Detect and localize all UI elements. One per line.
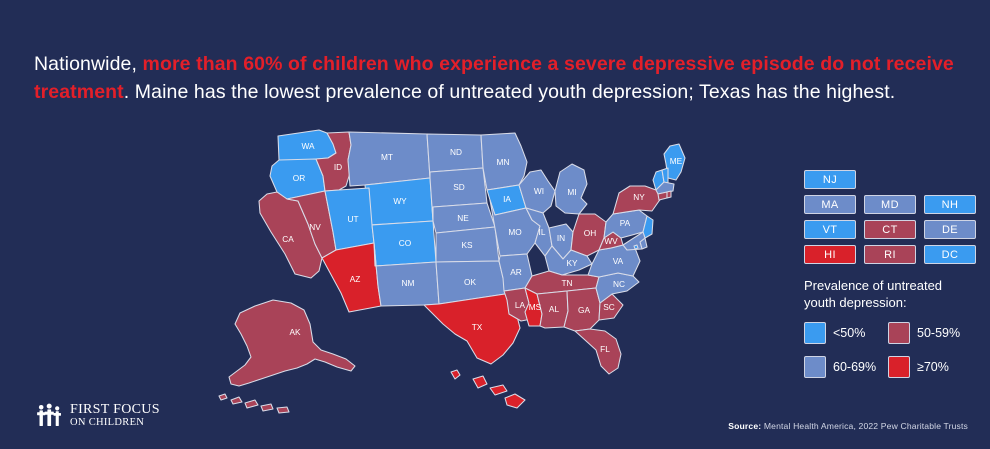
state-ga[interactable]: [564, 288, 600, 331]
legend-title: Prevalence of untreated youth depression…: [804, 278, 974, 311]
state-chip-hi[interactable]: HI: [804, 245, 856, 264]
logo-line-2: ON CHILDREN: [70, 417, 160, 428]
state-dc[interactable]: [634, 245, 638, 249]
state-chip-ct[interactable]: CT: [864, 220, 916, 239]
state-chip-label: HI: [824, 249, 836, 261]
state-co[interactable]: [372, 221, 436, 266]
state-fl[interactable]: [575, 329, 621, 374]
state-az[interactable]: [322, 243, 381, 312]
state-hi[interactable]: [451, 370, 525, 408]
state-ak[interactable]: [229, 300, 355, 386]
legend-label-0: <50%: [833, 326, 865, 340]
legend-swatch-1: [888, 322, 910, 344]
state-ks[interactable]: [436, 227, 499, 262]
legend-swatch-0: [804, 322, 826, 344]
source-attribution: Source: Mental Health America, 2022 Pew …: [728, 421, 968, 431]
chip-spacer: [924, 170, 976, 189]
legend-label-2: 60-69%: [833, 360, 876, 374]
state-chip-nj[interactable]: NJ: [804, 170, 856, 189]
state-chip-de[interactable]: DE: [924, 220, 976, 239]
legend-label-3: ≥70%: [917, 360, 949, 374]
state-chip-label: DE: [942, 224, 958, 236]
source-text: Mental Health America, 2022 Pew Charitab…: [764, 421, 968, 431]
legend-item-3: ≥70%: [888, 356, 978, 378]
state-chip-label: RI: [884, 249, 896, 261]
state-chip-label: NJ: [823, 174, 837, 186]
headline-part-2: . Maine has the lowest prevalence of unt…: [124, 81, 895, 103]
state-wy[interactable]: [365, 178, 433, 225]
family-figures-icon: [36, 403, 62, 429]
state-chip-label: MD: [881, 199, 899, 211]
state-ri[interactable]: [667, 191, 671, 198]
legend-item-2: 60-69%: [804, 356, 888, 378]
legend-swatch-2: [804, 356, 826, 378]
state-mi[interactable]: [555, 164, 587, 214]
headline-part-1: Nationwide,: [34, 53, 143, 75]
logo-line-1: FIRST FOCUS: [70, 404, 160, 415]
state-chip-label: CT: [882, 224, 897, 236]
chip-spacer: [864, 170, 916, 189]
state-chip-label: VT: [823, 224, 838, 236]
state-chip-ma[interactable]: MA: [804, 195, 856, 214]
small-state-chip-grid: NJMAMDNHVTCTDEHIRIDC: [804, 170, 980, 264]
legend-items: <50%50-59%60-69%≥70%: [804, 322, 980, 378]
legend-item-0: <50%: [804, 322, 888, 344]
us-choropleth-map: WAORCANVIDMTWYUTCOAZNMNDSDNEKSOKTXMNIAMO…: [215, 128, 685, 418]
source-label: Source:: [728, 421, 761, 431]
legend-item-1: 50-59%: [888, 322, 978, 344]
state-mn[interactable]: [481, 133, 527, 190]
page-title: Nationwide, more than 60% of children wh…: [34, 50, 956, 106]
state-chip-label: MA: [821, 199, 838, 211]
state-chip-dc[interactable]: DC: [924, 245, 976, 264]
state-nc[interactable]: [596, 273, 639, 303]
state-chip-vt[interactable]: VT: [804, 220, 856, 239]
logo-wordmark: FIRST FOCUS ON CHILDREN: [70, 404, 160, 428]
state-ct[interactable]: [658, 192, 667, 200]
state-ak-aleutians: [219, 394, 289, 413]
state-chip-label: NH: [942, 199, 959, 211]
state-al[interactable]: [537, 291, 568, 328]
us-map-svg: WAORCANVIDMTWYUTCOAZNMNDSDNEKSOKTXMNIAMO…: [215, 128, 685, 418]
state-chip-label: DC: [942, 249, 959, 261]
state-mt[interactable]: [348, 132, 430, 186]
legend-panel: NJMAMDNHVTCTDEHIRIDC Prevalence of untre…: [804, 170, 980, 378]
legend-label-1: 50-59%: [917, 326, 960, 340]
state-chip-nh[interactable]: NH: [924, 195, 976, 214]
state-chip-ri[interactable]: RI: [864, 245, 916, 264]
first-focus-logo: FIRST FOCUS ON CHILDREN: [36, 403, 160, 429]
state-chip-md[interactable]: MD: [864, 195, 916, 214]
legend-swatch-3: [888, 356, 910, 378]
state-tx[interactable]: [424, 294, 520, 364]
